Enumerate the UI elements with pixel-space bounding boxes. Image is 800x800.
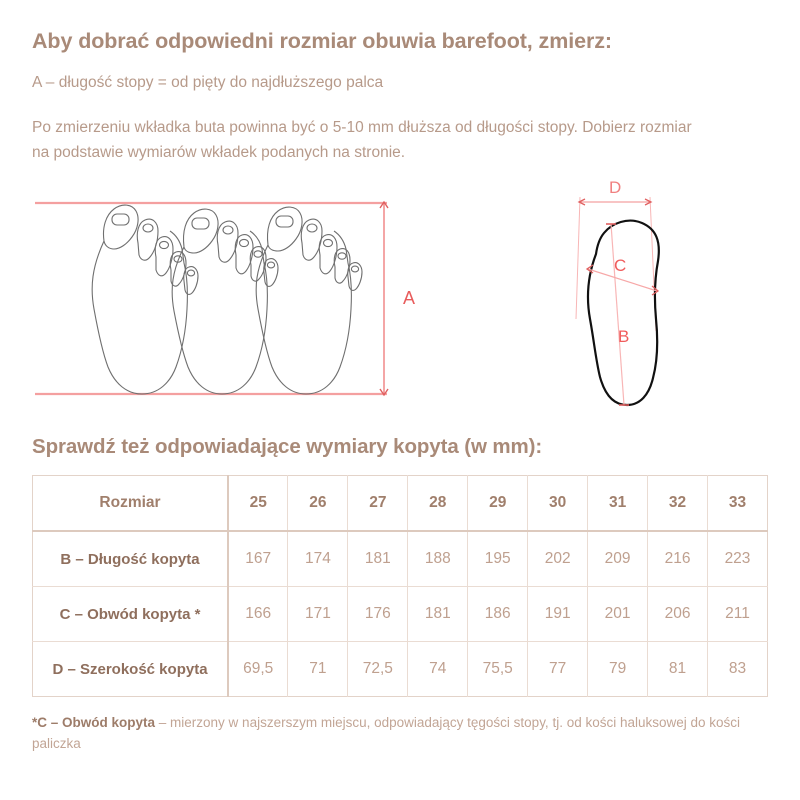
cell-value: 195 — [468, 531, 528, 587]
table-header-size: 30 — [528, 476, 588, 532]
insole-outline — [588, 221, 659, 405]
table-header-size: 31 — [588, 476, 648, 532]
table-header-size: 28 — [408, 476, 468, 532]
footnote: *C – Obwód kopyta – mierzony w najszersz… — [32, 697, 768, 755]
foot-outline-2 — [172, 209, 278, 394]
cell-value: 223 — [708, 531, 768, 587]
table-header-size: 32 — [648, 476, 708, 532]
dimension-a: A — [380, 202, 415, 395]
dimension-c: C — [587, 256, 658, 295]
table-header-size: 25 — [228, 476, 288, 532]
cell-value: 202 — [528, 531, 588, 587]
dimension-d-label: D — [609, 179, 621, 197]
cell-value: 77 — [528, 642, 588, 697]
table-header-size: 26 — [288, 476, 348, 532]
cell-value: 188 — [408, 531, 468, 587]
table-header-rozmiar: Rozmiar — [33, 476, 229, 532]
dimension-b-label: B — [618, 327, 629, 346]
last-dimensions-table: Rozmiar 25 26 27 28 29 30 31 32 33 B – D… — [32, 475, 768, 697]
table-row: D – Szerokość kopyta 69,5 71 72,5 74 75,… — [33, 642, 768, 697]
cell-value: 181 — [348, 531, 408, 587]
dimension-d: D — [579, 179, 651, 205]
cell-value: 206 — [648, 587, 708, 642]
cell-value: 75,5 — [468, 642, 528, 697]
dimension-b: B — [606, 224, 629, 405]
row-label-d: D – Szerokość kopyta — [33, 642, 229, 697]
table-body: B – Długość kopyta 167 174 181 188 195 2… — [33, 531, 768, 697]
cell-value: 176 — [348, 587, 408, 642]
cell-value: 186 — [468, 587, 528, 642]
foot-outline-3 — [256, 207, 362, 394]
table-title: Sprawdź też odpowiadające wymiary kopyta… — [32, 429, 768, 459]
table-header-row: Rozmiar 25 26 27 28 29 30 31 32 33 — [33, 476, 768, 532]
table-header-size: 29 — [468, 476, 528, 532]
row-label-c: C – Obwód kopyta * — [33, 587, 229, 642]
cell-value: 83 — [708, 642, 768, 697]
cell-value: 181 — [408, 587, 468, 642]
insole-dimensions-diagram: D B C — [532, 179, 752, 429]
footnote-term: *C – Obwód kopyta — [32, 715, 155, 730]
table-row: C – Obwód kopyta * 166 171 176 181 186 1… — [33, 587, 768, 642]
dimension-a-label: A — [403, 288, 415, 308]
foot-length-diagram: A — [32, 179, 462, 419]
cell-value: 191 — [528, 587, 588, 642]
diagrams-container: A D B — [32, 179, 768, 429]
dimension-c-label: C — [614, 256, 626, 275]
page-title: Aby dobrać odpowiedni rozmiar obuwia bar… — [32, 0, 768, 55]
cell-value: 79 — [588, 642, 648, 697]
cell-value: 167 — [228, 531, 288, 587]
cell-value: 174 — [288, 531, 348, 587]
table-head: Rozmiar 25 26 27 28 29 30 31 32 33 — [33, 476, 768, 532]
cell-value: 166 — [228, 587, 288, 642]
cell-value: 209 — [588, 531, 648, 587]
table-header-size: 27 — [348, 476, 408, 532]
instruction-paragraph: Po zmierzeniu wkładka buta powinna być o… — [32, 94, 692, 165]
foot-outline-1 — [92, 205, 198, 394]
cell-value: 74 — [408, 642, 468, 697]
cell-value: 216 — [648, 531, 708, 587]
cell-value: 171 — [288, 587, 348, 642]
row-label-b: B – Długość kopyta — [33, 531, 229, 587]
cell-value: 69,5 — [228, 642, 288, 697]
cell-value: 211 — [708, 587, 768, 642]
cell-value: 201 — [588, 587, 648, 642]
table-row: B – Długość kopyta 167 174 181 188 195 2… — [33, 531, 768, 587]
helper-line-left — [576, 197, 580, 319]
table-header-size: 33 — [708, 476, 768, 532]
size-guide-page: Aby dobrać odpowiedni rozmiar obuwia bar… — [0, 0, 800, 800]
lead-text: A – długość stopy = od pięty do najdłużs… — [32, 55, 768, 94]
cell-value: 72,5 — [348, 642, 408, 697]
cell-value: 81 — [648, 642, 708, 697]
cell-value: 71 — [288, 642, 348, 697]
